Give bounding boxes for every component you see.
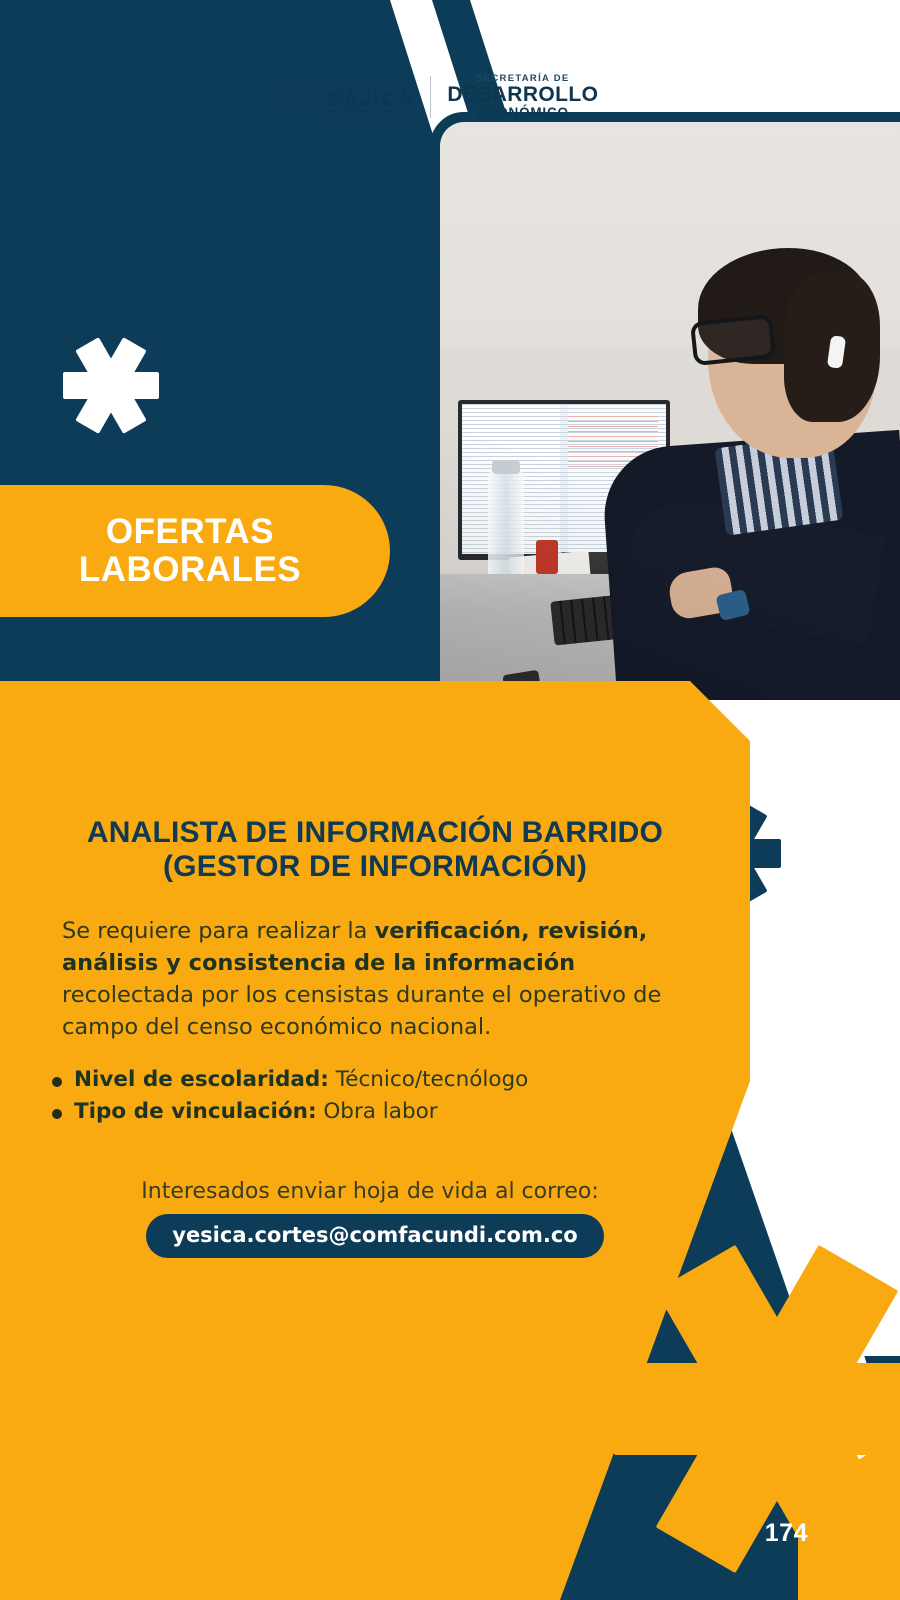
job-posting-content: ANALISTA DE INFORMACIÓN BARRIDO (GESTOR … [0, 681, 750, 1258]
list-item-value: Obra labor [317, 1099, 438, 1124]
alcaldia-name: CAJICÁ [328, 90, 414, 113]
secretaria-line-2: DESARROLLO [447, 84, 598, 106]
secretaria-wordmark: SECRETARÍA DE DESARROLLO ECONÓMICO [447, 74, 598, 120]
list-item-label: Tipo de vinculación: [74, 1099, 317, 1124]
photo-shading [440, 122, 900, 702]
coat-of-arms-icon [278, 78, 312, 116]
contact-email[interactable]: yesica.cortes@comfacundi.com.co [146, 1214, 603, 1258]
job-description: Se requiere para realizar la verificació… [62, 916, 686, 1044]
list-item-label: Nivel de escolaridad: [74, 1067, 329, 1092]
alcaldia-wordmark: · ALCALDÍA DE · CAJICÁ [328, 81, 414, 113]
banner-line-2: LABORALES [79, 551, 301, 589]
banner-line-1: OFERTAS [79, 513, 301, 551]
hero-photo-frame [430, 112, 900, 712]
job-details-list: Nivel de escolaridad: Técnico/tecnólogoT… [46, 1066, 750, 1128]
alcaldia-prefix: · ALCALDÍA DE · [331, 81, 410, 88]
asterisk-icon-orange-secondary [796, 1430, 900, 1600]
secretaria-line-3: ECONÓMICO [477, 106, 569, 120]
ofertas-laborales-banner: OFERTAS LABORALES [0, 485, 390, 617]
page-number: 174 [765, 1519, 808, 1548]
list-item: Nivel de escolaridad: Técnico/tecnólogo [46, 1066, 750, 1095]
list-item-value: Técnico/tecnólogo [329, 1067, 528, 1092]
poster-canvas: · ALCALDÍA DE · CAJICÁ SECRETARÍA DE DES… [0, 0, 900, 1600]
description-run-0: Se requiere para realizar la [62, 918, 375, 944]
banner-text: OFERTAS LABORALES [79, 513, 301, 589]
header-logo-lockup: · ALCALDÍA DE · CAJICÁ SECRETARÍA DE DES… [278, 74, 598, 120]
list-item: Tipo de vinculación: Obra labor [46, 1098, 750, 1127]
hero-photo [440, 122, 900, 702]
logo-divider [430, 76, 431, 118]
description-run-2: recolectada por los censistas durante el… [62, 982, 661, 1040]
page-title: ANALISTA DE INFORMACIÓN BARRIDO (GESTOR … [26, 816, 724, 884]
asterisk-icon-white [62, 336, 160, 434]
contact-prompt: Interesados enviar hoja de vida al corre… [0, 1179, 750, 1204]
